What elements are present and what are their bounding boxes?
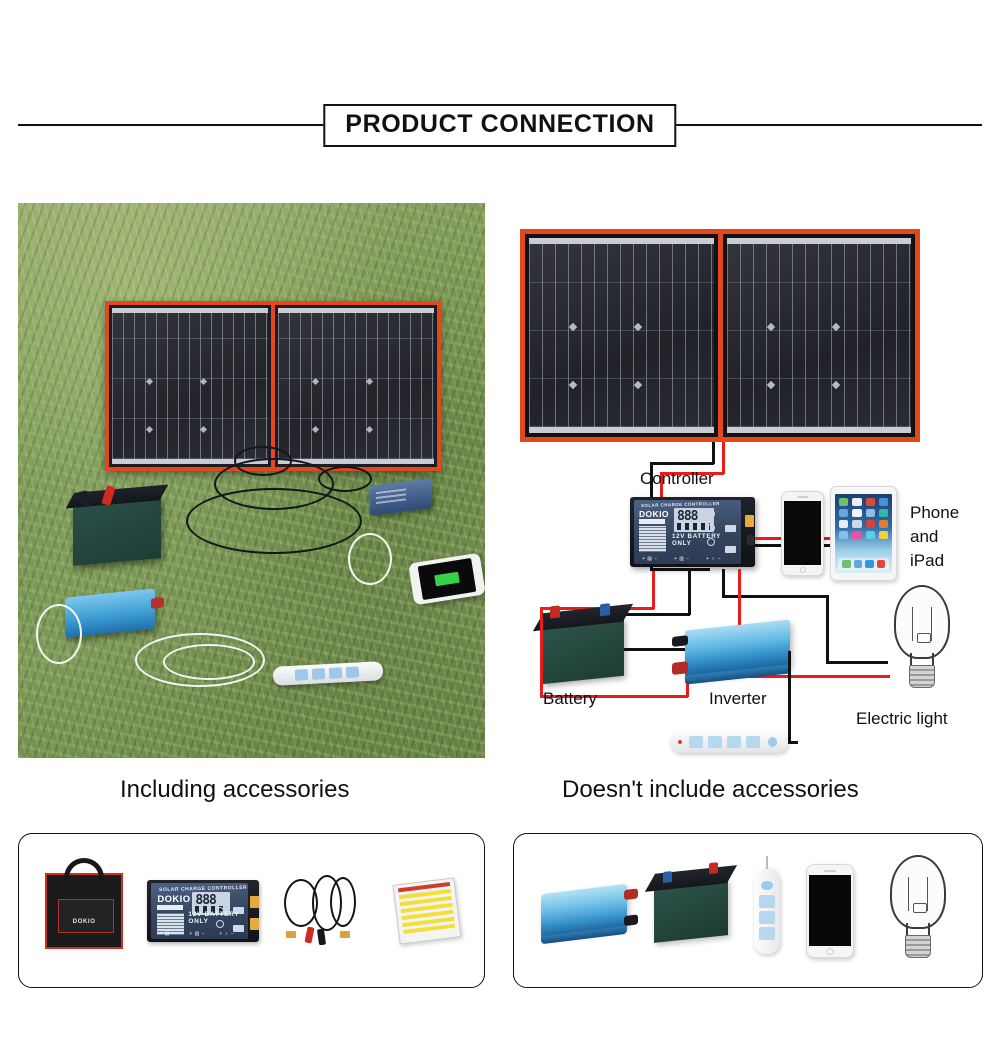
alligator-clip-positive <box>304 926 314 943</box>
wire-panel-positive <box>722 442 725 474</box>
inverter-terminal-positive <box>624 888 638 900</box>
controller-header-text: SOLAR CHARGE CONTROLLER <box>641 501 720 508</box>
bulb-filament <box>912 607 932 641</box>
accessory-light-bulb <box>881 855 955 967</box>
page-title: PRODUCT CONNECTION <box>345 112 654 137</box>
bulb-screw-base <box>909 665 935 688</box>
accessory-terminal-load: + ♀ − <box>219 931 234 937</box>
photo-white-cord-coil <box>163 644 255 680</box>
diagram-light-bulb <box>885 585 959 697</box>
diagram-panel-cells-right <box>727 244 912 427</box>
photo-panel-cells-right <box>278 313 434 459</box>
bag-brand-logo: DOKIO <box>73 919 96 925</box>
photo-phone-screen <box>418 558 477 600</box>
diagram-panel-wing-left <box>525 234 718 437</box>
diagram-busbar-bottom-left <box>529 427 714 433</box>
photo-solar-panel <box>105 301 441 471</box>
accessory-terminal-battery: + ▥ − <box>189 931 205 937</box>
controller-instruction-label <box>639 526 666 552</box>
photo-panel-cells-left <box>112 313 268 459</box>
product-in-use-photo <box>18 203 485 758</box>
accessory-bulb-neck <box>906 923 930 936</box>
accessory-controller-brand: DOKIO <box>157 894 190 905</box>
lcd-value: 888 <box>677 510 697 523</box>
connection-diagram: Controller SOLAR CHARGE CONTROLLER DOKIO… <box>500 203 982 783</box>
cable-connector <box>340 931 350 938</box>
ipad-dock <box>838 558 889 570</box>
photo-cable-coil <box>234 446 292 476</box>
wire-controller-to-phone-negative <box>755 544 783 547</box>
accessory-phone-screen <box>809 875 851 946</box>
accessory-controller-model-strip <box>157 905 183 910</box>
phone-screen <box>784 501 821 565</box>
wire-controller-battery-positive <box>652 571 655 609</box>
wire-load-negative <box>826 661 888 664</box>
usb-port-a[interactable] <box>745 515 754 527</box>
wire-panel-negative <box>650 462 714 465</box>
wire-controller-to-phone-positive <box>755 537 783 540</box>
bag-front-pocket <box>58 899 114 933</box>
accessory-phone-speaker <box>824 870 836 872</box>
strip-switch[interactable] <box>768 737 777 747</box>
photo-usb-cord <box>348 533 392 585</box>
product-connection-infographic: PRODUCT CONNECTION <box>0 0 1000 1058</box>
photo-white-cord <box>36 604 82 664</box>
caption-not-including-accessories: Doesn't include accessories <box>562 776 859 804</box>
controller-faceplate: SOLAR CHARGE CONTROLLER DOKIO 888 12V BA… <box>634 500 741 564</box>
controller-battery-note: 12V BATTERY ONLY <box>672 533 741 547</box>
photo-cable-coil <box>186 488 362 554</box>
label-battery: Battery <box>543 689 597 709</box>
photo-panel-wing-right <box>275 305 437 467</box>
accessory-battery-top <box>644 865 736 892</box>
diagram-ipad <box>830 486 897 581</box>
included-accessories-box: DOKIO SOLAR CHARGE CONTROLLER DOKIO 888 <box>18 833 485 988</box>
controller-model-strip <box>639 519 665 524</box>
phone-home-button[interactable] <box>800 567 806 573</box>
diagram-panel-cells-left <box>529 244 714 427</box>
carry-bag: DOKIO <box>45 873 123 949</box>
wire-battery-inverter-positive <box>540 615 543 697</box>
ipad-app-grid <box>839 498 888 539</box>
accessory-bulb-filament <box>908 877 928 911</box>
cable-loop <box>330 877 356 927</box>
accessory-terminal-solar: + ▤ − <box>159 931 175 937</box>
diagram-panel-wing-right <box>723 234 916 437</box>
accessory-usb-port-a <box>250 896 259 908</box>
wire-panel-negative <box>650 568 710 571</box>
accessory-charge-controller: SOLAR CHARGE CONTROLLER DOKIO 888 12V BA… <box>147 880 259 942</box>
strip-cord <box>766 856 768 869</box>
accessory-bulb-screw-base <box>905 935 931 958</box>
label-phone-ipad-line1: Phone <box>910 503 959 523</box>
terminal-load-label: + ♀ − <box>706 556 721 562</box>
battery-positive-terminal <box>550 605 560 618</box>
diagram-battery <box>542 618 624 685</box>
label-phone-ipad-line2: and <box>910 527 938 547</box>
controller-button-mode[interactable] <box>707 510 715 518</box>
accessory-controller-button-mode <box>216 894 224 902</box>
photo-busbar-top-left <box>112 308 268 313</box>
accessory-controller-battery-note: 12V BATTERY ONLY <box>188 911 248 925</box>
wire-load-negative <box>826 595 829 663</box>
ipad-screen <box>835 494 892 573</box>
cable-set-with-clips <box>284 875 372 947</box>
accessory-battery-positive <box>709 862 718 874</box>
usb-port-b[interactable] <box>747 535 754 545</box>
usb-port-icon-1 <box>725 525 736 532</box>
label-inverter: Inverter <box>709 689 767 709</box>
diagram-busbar-bottom-right <box>727 427 912 433</box>
wire-controller-battery-negative <box>688 569 691 615</box>
accessory-usb-icon-2 <box>233 925 244 932</box>
label-phone-ipad-line3: iPad <box>910 551 944 571</box>
diagram-power-strip <box>670 731 788 753</box>
wire-load-negative <box>722 569 725 597</box>
alligator-clip-negative <box>317 928 326 945</box>
accessory-battery-negative <box>663 870 672 882</box>
label-electric-light: Electric light <box>856 709 948 729</box>
diagram-inverter <box>685 619 790 677</box>
battery-negative-terminal <box>600 603 610 616</box>
caption-including-accessories: Including accessories <box>120 776 349 804</box>
terminal-battery-label: + ▥ − <box>674 556 690 562</box>
cable-connector <box>286 931 296 938</box>
wire-inverter-to-strip <box>788 651 791 743</box>
diagram-busbar-top-right <box>727 238 912 244</box>
accessory-power-strip <box>754 868 780 954</box>
accessory-phone-home-button <box>827 948 834 955</box>
accessory-smartphone <box>806 864 854 958</box>
accessory-controller-faceplate: SOLAR CHARGE CONTROLLER DOKIO 888 12V BA… <box>151 883 248 939</box>
header-band: PRODUCT CONNECTION <box>0 104 1000 150</box>
diagram-busbar-top-left <box>529 238 714 244</box>
charge-controller-device: SOLAR CHARGE CONTROLLER DOKIO 888 12V BA… <box>630 497 755 567</box>
accessory-usb-port-b <box>250 918 259 930</box>
wire-panel-negative <box>712 442 715 464</box>
controller-brand-logo: DOKIO <box>639 509 669 519</box>
user-manual-card <box>392 877 461 944</box>
inverter-input-negative <box>672 635 688 647</box>
wire-battery-inverter-negative <box>624 648 686 651</box>
bag-handle <box>64 858 104 880</box>
terminal-solar-label: + ▤ − <box>642 556 658 562</box>
inverter-input-positive <box>672 661 688 675</box>
wire-inverter-to-strip <box>788 741 798 744</box>
photo-panel-wing-left <box>109 305 271 467</box>
included-accessories-row: DOKIO SOLAR CHARGE CONTROLLER DOKIO 888 <box>19 834 484 987</box>
accessory-strip-switch <box>761 881 773 890</box>
inverter-terminal-negative <box>624 914 638 926</box>
usb-port-icon-2 <box>725 546 736 553</box>
diagram-solar-panel <box>520 229 920 442</box>
phone-speaker <box>797 496 808 498</box>
label-controller: Controller <box>640 469 714 489</box>
accessory-battery <box>654 879 728 943</box>
not-included-accessories-box <box>513 833 983 988</box>
photo-busbar-top-right <box>278 308 434 313</box>
lcd-status-icons <box>677 523 710 530</box>
not-included-accessories-row <box>514 834 982 987</box>
battery-charging-icon <box>434 572 459 587</box>
diagram-smartphone <box>781 491 824 576</box>
controller-button-up[interactable] <box>707 524 715 532</box>
page-title-box: PRODUCT CONNECTION <box>323 104 676 147</box>
strip-power-led <box>678 740 682 744</box>
accessory-inverter <box>541 883 627 938</box>
